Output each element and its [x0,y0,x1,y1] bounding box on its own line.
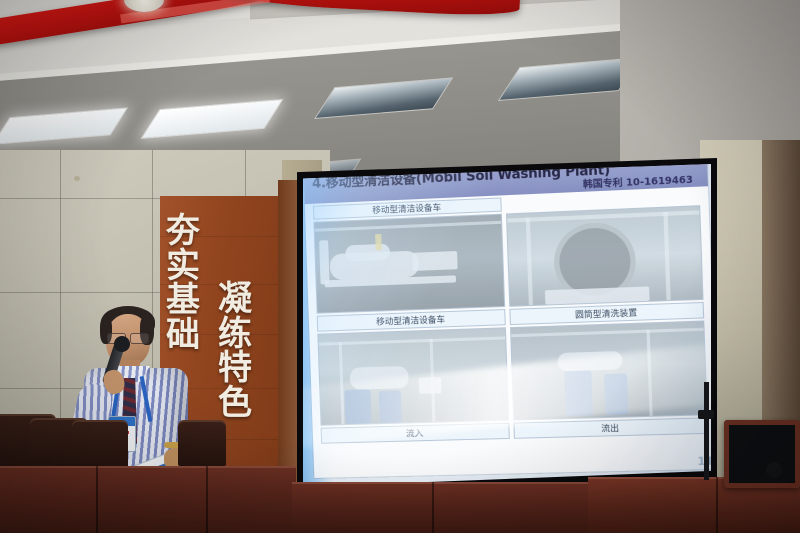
podium-monitor[interactable] [724,420,800,488]
banner-char: 实 [166,249,200,284]
projection-screen-surface[interactable]: 4.移动型清洁设备(Mobil Soil Washing Plant) 韩国专利… [303,164,711,487]
tile-blemish [74,176,80,181]
banner-column-left: 凝 练 特 色 [218,282,252,421]
desk-seam [206,466,208,533]
desk-front-row [0,466,296,533]
banner-char: 练 [218,317,252,352]
microphone-stand [704,382,709,480]
banner-char: 色 [218,386,252,421]
banner-char: 特 [218,351,252,386]
podium-speaker-knob [766,462,782,478]
conference-room-photo: 夯 实 基 础 凝 练 特 色 4.移动型清洁设备(Mobil Soil Was… [0,0,800,533]
podium-seam [716,477,718,533]
wall-right-wood-trim [762,140,800,440]
banner-char: 夯 [166,214,200,249]
desk-seam [432,482,434,533]
chair[interactable] [178,420,226,466]
banner-char: 凝 [218,282,252,317]
chair[interactable] [72,420,128,472]
microphone-head-icon [114,336,130,352]
microphone-stand-clamp [698,410,714,419]
desk-right [292,482,592,533]
desk-seam [96,466,98,533]
